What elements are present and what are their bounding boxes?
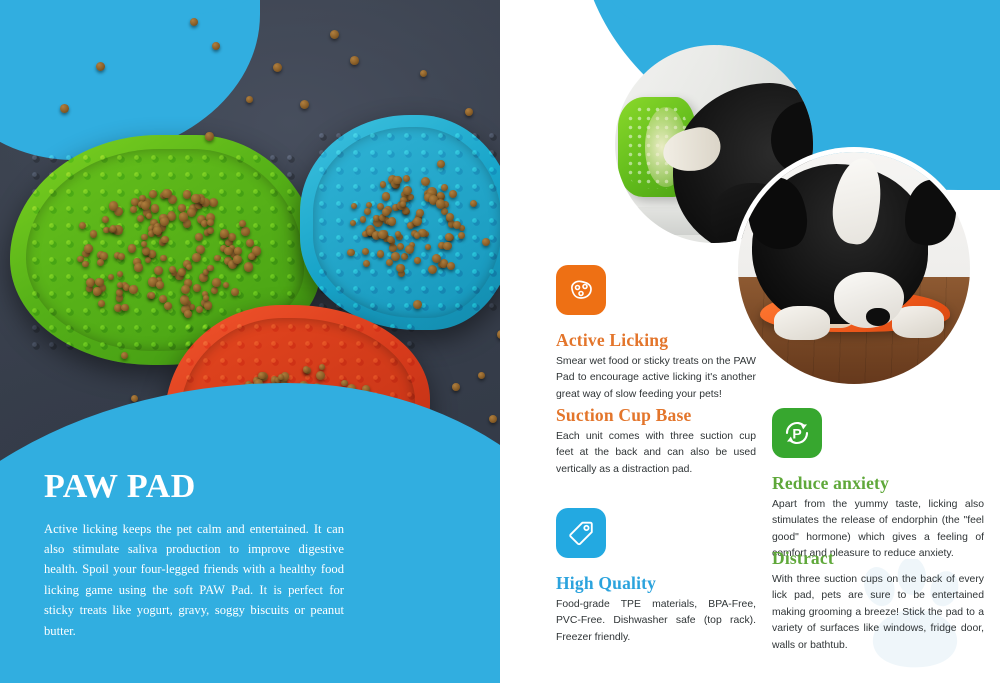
kibble-piece	[452, 383, 460, 391]
price-tag-icon	[556, 508, 606, 558]
blue-lick-mat	[300, 115, 500, 330]
kibble-piece	[396, 264, 405, 273]
kibble-piece	[141, 201, 150, 210]
left-text-block: PAW PAD Active licking keeps the pet cal…	[44, 468, 344, 641]
feature-body: Smear wet food or sticky treats on the P…	[556, 354, 756, 403]
kibble-piece	[425, 244, 431, 250]
kibble-piece	[395, 231, 401, 237]
kibble-piece	[246, 239, 254, 247]
kibble-piece	[95, 278, 104, 287]
kibble-piece	[416, 209, 424, 217]
feature-active-licking: Active Licking Smear wet food or sticky …	[556, 265, 756, 403]
mat-inner	[313, 127, 500, 318]
feature-body: Each unit comes with three suction cup f…	[556, 429, 756, 478]
kibble-piece	[203, 295, 209, 301]
feature-title: High Quality	[556, 573, 756, 594]
feature-title: Reduce anxiety	[772, 473, 984, 494]
kibble-piece	[93, 287, 102, 296]
kibble-piece	[228, 233, 236, 241]
feature-suction-cup-base: Suction Cup Base Each unit comes with th…	[556, 405, 756, 478]
kibble-piece	[362, 248, 369, 255]
kibble-piece	[108, 274, 114, 280]
dog-paw-left	[774, 306, 830, 340]
kibble-piece	[350, 220, 356, 226]
kibble-piece	[195, 233, 203, 241]
lick-pad-icon	[556, 265, 606, 315]
kibble-piece	[413, 300, 422, 309]
kibble-piece	[98, 300, 105, 307]
kibble-piece	[436, 199, 445, 208]
kibble-piece	[258, 372, 265, 379]
kibble-piece	[134, 263, 143, 272]
kibble-piece	[239, 220, 246, 227]
kibble-piece	[387, 236, 394, 243]
feature-title: Distract	[772, 548, 984, 569]
kibble-piece	[211, 287, 218, 294]
mat-texture	[313, 127, 500, 318]
kibble-piece	[169, 266, 176, 273]
photo-dog-licking-orange-pad-on-floor	[738, 152, 970, 384]
kibble-piece	[149, 292, 156, 299]
kibble-piece	[350, 56, 359, 65]
kibble-piece	[86, 278, 95, 287]
kibble-piece	[90, 230, 97, 237]
brochure-page: PAW PAD Active licking keeps the pet cal…	[0, 0, 1000, 683]
feature-distract: Distract With three suction cups on the …	[772, 548, 984, 654]
kibble-piece	[205, 132, 214, 141]
kibble-piece	[437, 192, 443, 198]
kibble-piece	[82, 261, 88, 267]
left-panel: PAW PAD Active licking keeps the pet cal…	[0, 0, 500, 683]
kibble-piece	[478, 372, 485, 379]
kibble-piece	[341, 380, 347, 386]
kibble-piece	[458, 232, 465, 239]
kibble-piece	[162, 189, 171, 198]
kibble-piece	[347, 249, 354, 256]
kibble-piece	[244, 262, 253, 271]
kibble-piece	[109, 201, 118, 210]
kibble-piece	[316, 371, 325, 380]
feature-high-quality: High Quality Food-grade TPE materials, B…	[556, 508, 756, 646]
kibble-piece	[191, 194, 200, 203]
kibble-piece	[382, 208, 390, 216]
feature-reduce-anxiety: P Reduce anxiety Apart from the yummy ta…	[772, 408, 984, 563]
kibble-piece	[223, 282, 229, 288]
kibble-piece	[179, 212, 188, 221]
kibble-piece	[212, 278, 221, 287]
kibble-piece	[224, 247, 233, 256]
kibble-piece	[382, 192, 390, 200]
recycle-p-glyph: P	[781, 417, 813, 449]
kibble-piece	[146, 213, 152, 219]
page-description: Active licking keeps the pet calm and en…	[44, 519, 344, 641]
kibble-piece	[121, 304, 129, 312]
svg-text:P: P	[792, 426, 801, 442]
kibble-piece	[246, 96, 253, 103]
kibble-piece	[388, 217, 397, 226]
kibble-piece	[248, 253, 255, 260]
feature-body: Food-grade TPE materials, BPA-Free, PVC-…	[556, 597, 756, 646]
kibble-piece	[414, 232, 421, 239]
feature-title: Active Licking	[556, 330, 756, 351]
lick-pad-glyph	[565, 274, 597, 306]
feature-title: Suction Cup Base	[556, 405, 756, 426]
recycle-p-icon: P	[772, 408, 822, 458]
kibble-piece	[303, 366, 309, 372]
kibble-piece	[196, 306, 203, 313]
kibble-piece	[130, 206, 136, 212]
kibble-piece	[465, 108, 473, 116]
kibble-piece	[489, 415, 497, 423]
page-title: PAW PAD	[44, 468, 344, 506]
kibble-piece	[161, 236, 168, 243]
kibble-piece	[118, 253, 125, 260]
kibble-piece	[497, 330, 500, 339]
kibble-piece	[178, 268, 186, 276]
right-panel: Active Licking Smear wet food or sticky …	[508, 0, 1000, 683]
feature-body: With three suction cups on the back of e…	[772, 572, 984, 654]
kibble-piece	[363, 260, 370, 267]
kibble-piece	[207, 219, 214, 226]
kibble-piece	[389, 244, 397, 252]
kibble-piece	[178, 204, 186, 212]
kibble-piece	[360, 216, 366, 222]
kibble-piece	[156, 281, 164, 289]
kibble-piece	[233, 255, 242, 264]
kibble-piece	[214, 255, 220, 261]
dog-nose	[866, 308, 890, 326]
kibble-piece	[192, 253, 201, 262]
kibble-piece	[60, 104, 69, 113]
kibble-piece	[364, 208, 371, 215]
kibble-piece	[141, 234, 148, 241]
kibble-piece	[129, 285, 137, 293]
kibble-piece	[421, 177, 430, 186]
kibble-piece	[149, 190, 157, 198]
kibble-piece	[116, 289, 123, 296]
kibble-piece	[241, 227, 249, 235]
kibble-piece	[234, 247, 242, 255]
kibble-piece	[319, 364, 325, 370]
kibble-piece	[151, 204, 160, 213]
kibble-piece	[117, 271, 123, 277]
kibble-piece	[414, 257, 421, 264]
kibble-piece	[393, 176, 402, 185]
price-tag-glyph	[566, 518, 596, 548]
kibble-piece	[97, 259, 104, 266]
kibble-piece	[204, 301, 213, 310]
kibble-piece	[181, 285, 190, 294]
